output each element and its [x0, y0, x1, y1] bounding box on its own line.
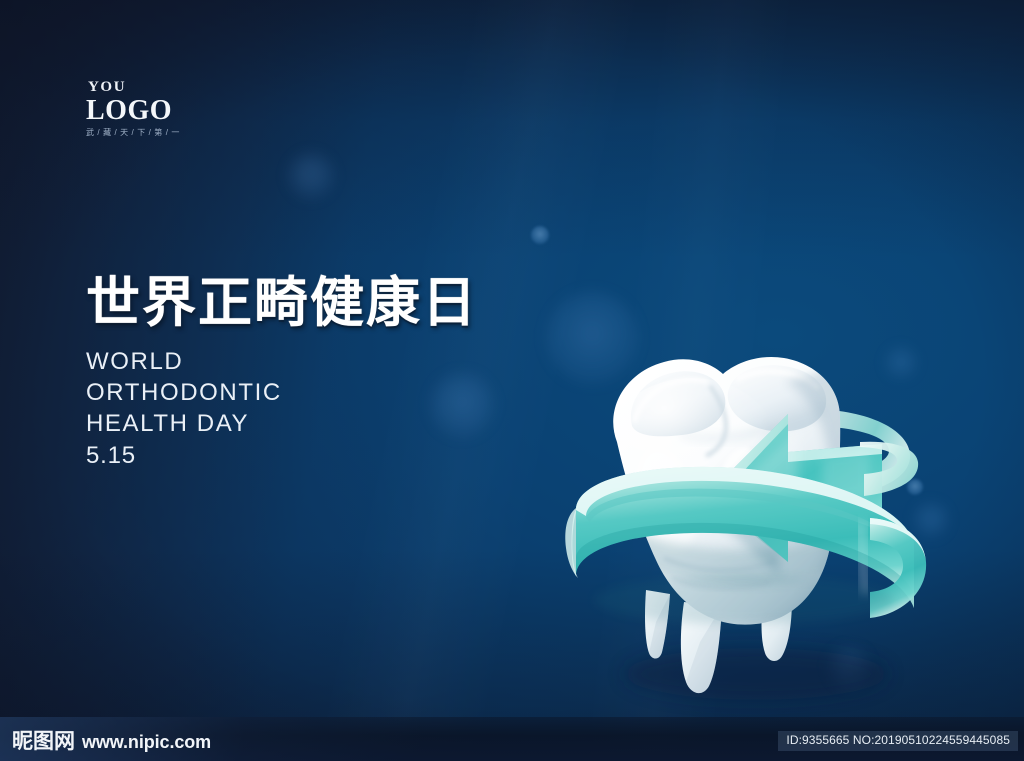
title-en-line-3: HEALTH DAY — [86, 408, 478, 439]
logo-top-line: YOU — [88, 80, 180, 95]
brand-logo[interactable]: YOU LOGO 武 / 藏 / 天 / 下 / 第 / 一 — [86, 80, 180, 137]
title-en-line-2: ORTHODONTIC — [86, 377, 478, 408]
asset-id-badge: ID:9355665 NO:20190510224559445085 — [778, 731, 1018, 751]
event-date: 5.15 — [86, 440, 478, 471]
page-title-english: WORLD ORTHODONTIC HEALTH DAY 5.15 — [86, 346, 478, 471]
site-watermark[interactable]: 昵图网 www.nipic.com — [12, 731, 211, 752]
headline-block: 世界正畸健康日 WORLD ORTHODONTIC HEALTH DAY 5.1… — [86, 276, 478, 471]
poster-canvas: YOU LOGO 武 / 藏 / 天 / 下 / 第 / 一 世界正畸健康日 W… — [0, 0, 1024, 761]
logo-sub-line: 武 / 藏 / 天 / 下 / 第 / 一 — [86, 129, 180, 137]
title-en-line-1: WORLD — [86, 346, 478, 377]
watermark-url: www.nipic.com — [82, 733, 211, 751]
watermark-chinese: 昵图网 — [12, 731, 75, 752]
tooth-illustration — [560, 322, 960, 722]
footer-bar: 昵图网 www.nipic.com ID:9355665 NO:20190510… — [0, 717, 1024, 761]
page-title-chinese: 世界正畸健康日 — [86, 276, 478, 330]
logo-main-line: LOGO — [86, 96, 180, 125]
